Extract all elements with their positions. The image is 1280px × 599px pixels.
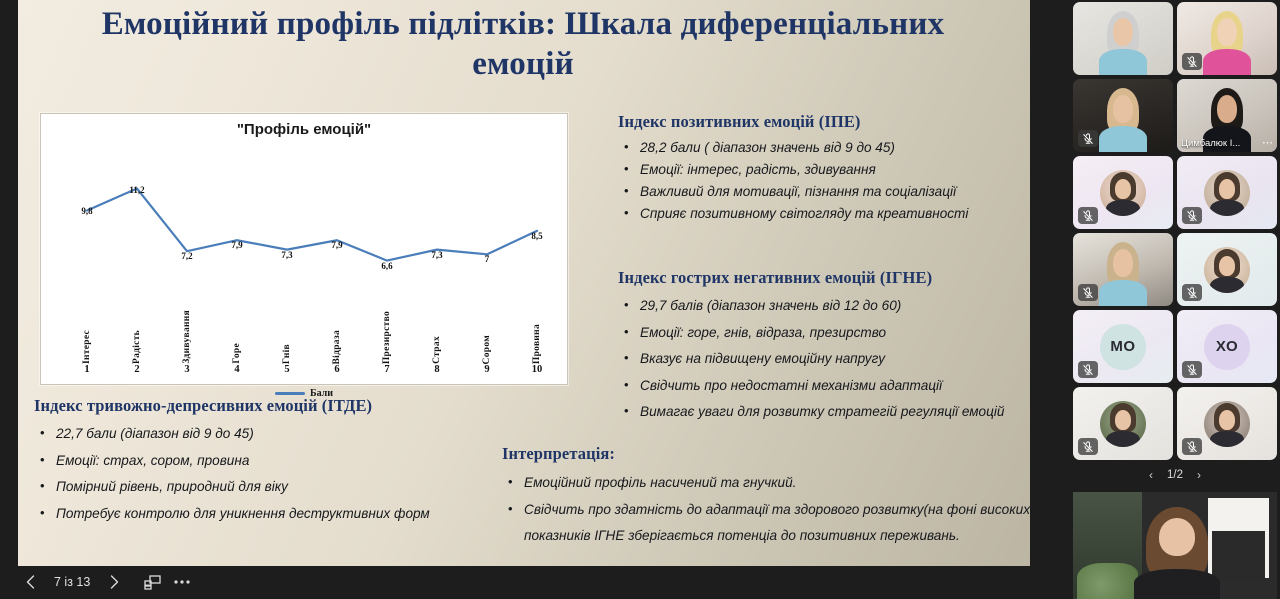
mic-muted-icon	[1078, 207, 1098, 224]
mic-muted-icon	[1078, 438, 1098, 455]
ipe-bullet-item: 28,2 бали ( діапазон значень від 9 до 45…	[618, 137, 1030, 159]
avatar-initials: МО	[1100, 324, 1146, 370]
next-slide-button[interactable]	[100, 569, 128, 595]
chart-category-label: Страх	[432, 336, 442, 364]
avatar-photo	[1204, 401, 1250, 447]
chart-tick-number: 10	[532, 364, 543, 375]
participant-tile[interactable]	[1177, 387, 1277, 460]
more-options-icon[interactable]	[167, 569, 197, 595]
participant-tile[interactable]: ХО	[1177, 310, 1277, 383]
participant-tile[interactable]: МО	[1073, 310, 1173, 383]
index-anxiety-depressive-emotions-block: Індекс тривожно-депресивних емоцій (ІТДЕ…	[34, 396, 504, 527]
avatar-photo	[1204, 247, 1250, 293]
legend-line-swatch	[275, 392, 305, 395]
itde-heading: Індекс тривожно-депресивних емоцій (ІТДЕ…	[34, 396, 504, 416]
page-title: Емоційний профіль підлітків: Шкала дифер…	[58, 4, 988, 85]
slide-page-indicator: 7 із 13	[44, 575, 100, 589]
chart-tick-number: 1	[84, 364, 89, 375]
ipe-bullet-item: Важливий для мотивації, пізнання та соці…	[618, 181, 1030, 203]
rail-next-page-button[interactable]: ›	[1197, 468, 1201, 482]
itde-bullet-item: 22,7 бали (діапазон від 9 до 45)	[34, 421, 504, 448]
avatar-initials: ХО	[1204, 324, 1250, 370]
chart-point-label: 6,6	[381, 261, 392, 271]
participant-more-options-icon[interactable]: ⋯	[1262, 138, 1273, 149]
mic-muted-icon	[1078, 361, 1098, 378]
igne-bullet-list: 29,7 балів (діапазон значень від 12 до 6…	[618, 293, 1030, 426]
itde-bullet-list: 22,7 бали (діапазон від 9 до 45)Емоції: …	[34, 421, 504, 527]
chart-category-label: Сором	[482, 335, 492, 364]
chart-title: "Профіль емоцій"	[41, 121, 567, 138]
participant-name-bar: Цимбалюк І...⋯	[1177, 135, 1277, 152]
igne-bullet-item: Емоції: горе, гнів, відраза, презирство	[618, 320, 1030, 347]
mic-muted-icon	[1182, 438, 1202, 455]
itde-bullet-item: Помірний рівень, природний для віку	[34, 474, 504, 501]
participant-tile-grid: Цимбалюк І...⋯ МО ХО	[1073, 2, 1277, 460]
participant-tile[interactable]: Цимбалюк І...⋯	[1177, 79, 1277, 152]
chart-point-label: 7,2	[181, 251, 192, 261]
ipe-bullet-list: 28,2 бали ( діапазон значень від 9 до 45…	[618, 137, 1030, 225]
self-view-tile[interactable]	[1073, 492, 1277, 599]
chart-line-series	[41, 142, 569, 282]
participant-video-rail: Цимбалюк І...⋯ МО ХО	[1070, 0, 1280, 599]
chart-point-label: 7,3	[431, 250, 442, 260]
mic-muted-icon	[1182, 361, 1202, 378]
mic-muted-icon	[1182, 207, 1202, 224]
chart-category-label: Відраза	[332, 330, 342, 364]
mic-muted-icon	[1182, 284, 1202, 301]
participant-silhouette	[1073, 2, 1173, 75]
mic-muted-icon	[1182, 53, 1202, 70]
chart-category-label: Здивування	[182, 310, 192, 364]
avatar-photo	[1204, 170, 1250, 216]
chart-tick-number: 2	[134, 364, 139, 375]
itde-bullet-item: Емоції: страх, сором, провина	[34, 448, 504, 475]
chart-tick-numbers: 12345678910	[41, 364, 567, 382]
chart-plot-area: 9,811,27,27,97,37,96,67,378,5	[41, 142, 567, 282]
avatar-photo	[1100, 401, 1146, 447]
interpretation-bullet-list: Емоційний профіль насичений та гнучкий.С…	[502, 470, 1030, 550]
emotion-profile-chart: "Профіль емоцій" 9,811,27,27,97,37,96,67…	[40, 113, 568, 385]
chart-tick-number: 9	[484, 364, 489, 375]
rail-pagination: ‹ 1/2 ›	[1073, 462, 1277, 488]
igne-bullet-item: 29,7 балів (діапазон значень від 12 до 6…	[618, 293, 1030, 320]
igne-bullet-item: Свідчить про недостатні механізми адапта…	[618, 373, 1030, 400]
igne-bullet-item: Вимагає уваги для розвитку стратегій рег…	[618, 399, 1030, 426]
igne-heading: Індекс гострих негативних емоцій (ІГНЕ)	[618, 268, 1030, 288]
ipe-heading: Індекс позитивних емоцій (ІПЕ)	[618, 112, 1030, 132]
rail-prev-page-button[interactable]: ‹	[1149, 468, 1153, 482]
participant-tile[interactable]	[1073, 2, 1173, 75]
previous-slide-button[interactable]	[16, 569, 44, 595]
slide-navigation-toolbar: 7 із 13	[0, 565, 1070, 599]
index-positive-emotions-block: Індекс позитивних емоцій (ІПЕ) 28,2 бали…	[618, 112, 1030, 225]
index-acute-negative-emotions-block: Індекс гострих негативних емоцій (ІГНЕ) …	[618, 268, 1030, 426]
itde-bullet-item: Потребує контролю для уникнення деструкт…	[34, 501, 504, 528]
participant-tile[interactable]	[1073, 387, 1173, 460]
chart-point-label: 7,9	[231, 240, 242, 250]
chart-category-label: Гнів	[282, 344, 292, 364]
participant-tile[interactable]	[1177, 2, 1277, 75]
participant-tile[interactable]	[1177, 156, 1277, 229]
presentation-stage: Емоційний профіль підлітків: Шкала дифер…	[0, 0, 1070, 599]
interpretation-heading: Інтерпретація:	[502, 444, 1030, 464]
chart-tick-number: 6	[334, 364, 339, 375]
chart-category-label: Презирство	[382, 311, 392, 364]
chart-category-label: Радість	[132, 330, 142, 364]
chart-category-label: Інтерес	[82, 330, 92, 364]
mic-muted-icon	[1078, 284, 1098, 301]
chart-tick-number: 3	[184, 364, 189, 375]
chart-tick-number: 8	[434, 364, 439, 375]
interpretation-bullet-item: Емоційний профіль насичений та гнучкий.	[502, 470, 1030, 497]
igne-bullet-item: Вказує на підвищену емоційну напругу	[618, 346, 1030, 373]
chart-tick-number: 4	[234, 364, 239, 375]
chart-category-label: Горе	[232, 343, 242, 364]
chart-point-label: 9,8	[81, 206, 92, 216]
chart-category-labels: ІнтересРадістьЗдивуванняГореГнівВідразаП…	[41, 282, 567, 364]
slide-canvas[interactable]: Емоційний профіль підлітків: Шкала дифер…	[18, 0, 1030, 566]
participant-name: Цимбалюк І...	[1181, 138, 1240, 149]
ipe-bullet-item: Сприяє позитивному світогляду та креатив…	[618, 203, 1030, 225]
ipe-bullet-item: Емоції: інтерес, радість, здивування	[618, 159, 1030, 181]
participant-tile[interactable]	[1177, 233, 1277, 306]
participant-tile[interactable]	[1073, 156, 1173, 229]
chart-point-label: 7,3	[281, 250, 292, 260]
chart-point-label: 11,2	[129, 185, 144, 195]
rail-page-indicator: 1/2	[1167, 469, 1183, 481]
chart-point-label: 8,5	[531, 231, 542, 241]
chart-tick-number: 5	[284, 364, 289, 375]
slide-layout-icon[interactable]	[138, 569, 167, 595]
chart-point-label: 7,9	[331, 240, 342, 250]
participant-tile[interactable]	[1073, 79, 1173, 152]
teams-presentation-window: Емоційний профіль підлітків: Шкала дифер…	[0, 0, 1280, 599]
chart-category-label: Провина	[532, 324, 542, 364]
chart-point-label: 7	[485, 254, 490, 264]
interpretation-block: Інтерпретація: Емоційний профіль насичен…	[502, 444, 1030, 550]
chart-tick-number: 7	[384, 364, 389, 375]
interpretation-bullet-item: Свідчить про здатність до адаптації та з…	[502, 497, 1030, 550]
mic-muted-icon	[1078, 130, 1098, 147]
participant-tile[interactable]	[1073, 233, 1173, 306]
avatar-photo	[1100, 170, 1146, 216]
